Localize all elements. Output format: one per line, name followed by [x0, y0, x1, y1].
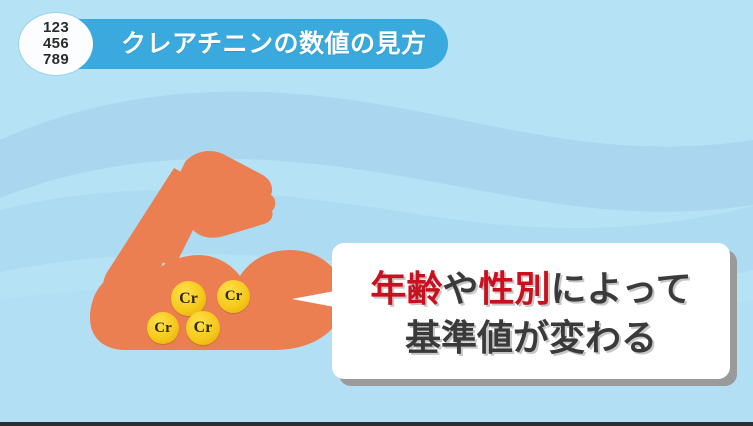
- header-bar: クレアチニンの数値の見方: [33, 19, 448, 69]
- callout-line-2: 基準値が変わる: [332, 309, 730, 361]
- creatinine-token: Cr: [147, 312, 179, 344]
- callout-bubble: 年齢や性別によって 基準値が変わる: [332, 243, 730, 379]
- badge-line-2: 456: [43, 36, 69, 52]
- bottom-strip: [0, 422, 753, 426]
- slide-canvas: クレアチニンの数値の見方 123 456 789 CrCrCrCr 年齢や性別に…: [0, 0, 753, 426]
- flexed-bicep-arm-icon: [78, 148, 368, 363]
- creatinine-token: Cr: [186, 311, 220, 345]
- callout-text-ya: や: [442, 268, 478, 309]
- badge-line-1: 123: [43, 20, 69, 36]
- callout-line-1: 年齢や性別によって: [332, 260, 730, 312]
- page-title: クレアチニンの数値の見方: [121, 19, 427, 69]
- badge-line-3: 789: [43, 52, 69, 68]
- callout-accent-age: 年齢: [370, 268, 442, 309]
- creatinine-token: Cr: [217, 280, 250, 313]
- callout-text-niyotte: によって: [550, 268, 691, 309]
- callout-accent-sex: 性別: [478, 268, 550, 309]
- number-badge-icon: 123 456 789: [19, 13, 93, 75]
